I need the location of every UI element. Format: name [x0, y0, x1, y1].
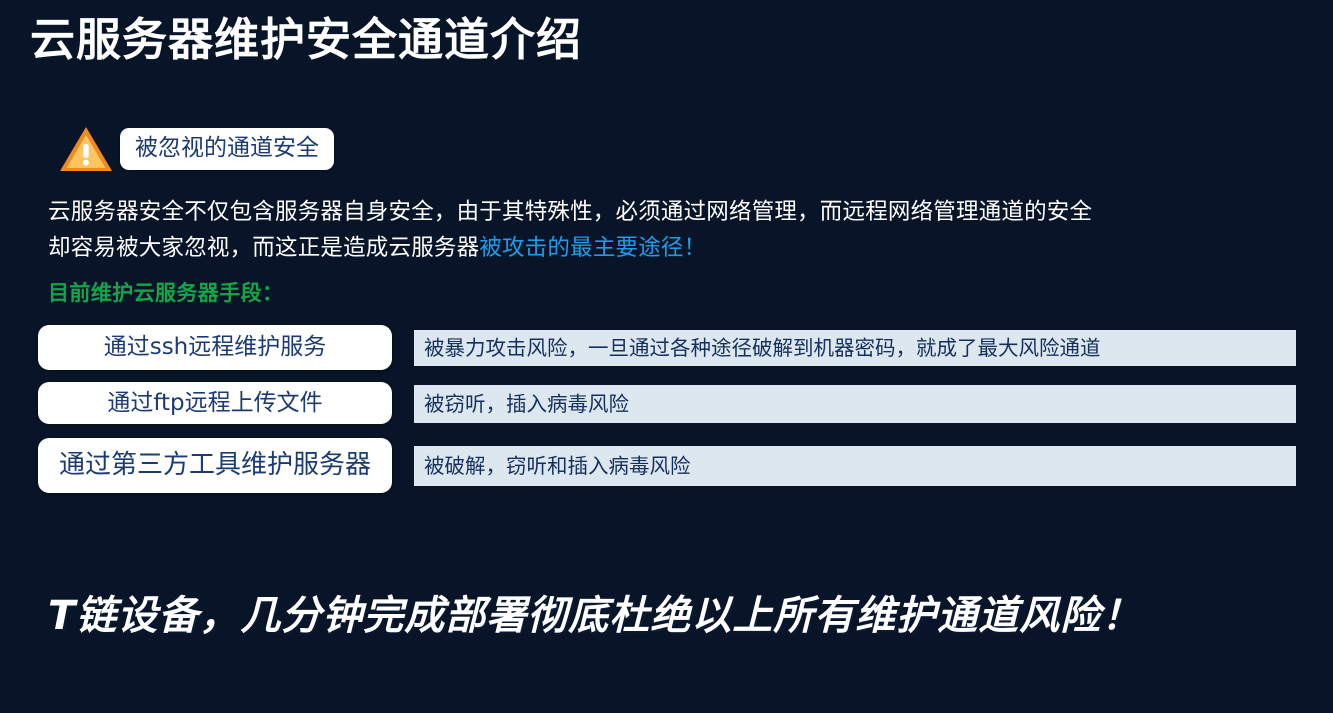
method-button-ftp[interactable]: 通过ftp远程上传文件: [38, 382, 392, 424]
method-button-third-party-tool[interactable]: 通过第三方工具维护服务器: [38, 438, 392, 493]
method-risk-ftp: 被窃听，插入病毒风险: [414, 385, 1296, 423]
intro-paragraph-highlight: 被攻击的最主要途径！: [479, 235, 706, 261]
intro-paragraph-line1: 云服务器安全不仅包含服务器自身安全，由于其特殊性，必须通过网络管理，而远程网络管…: [48, 199, 1092, 225]
method-row: 通过ftp远程上传文件 被窃听，插入病毒风险: [38, 382, 1296, 424]
method-risk-ssh: 被暴力攻击风险，一旦通过各种途径破解到机器密码，就成了最大风险通道: [414, 330, 1296, 366]
method-button-ssh[interactable]: 通过ssh远程维护服务: [38, 325, 392, 370]
methods-list: 通过ssh远程维护服务 被暴力攻击风险，一旦通过各种途径破解到机器密码，就成了最…: [38, 325, 1296, 505]
page-title: 云服务器维护安全通道介绍: [30, 14, 582, 66]
method-row: 通过第三方工具维护服务器 被破解，窃听和插入病毒风险: [38, 438, 1296, 493]
method-row: 通过ssh远程维护服务 被暴力攻击风险，一旦通过各种途径破解到机器密码，就成了最…: [38, 325, 1296, 370]
bottom-banner-text: T链设备，几分钟完成部署彻底杜绝以上所有维护通道风险！: [48, 583, 1142, 641]
warning-triangle-icon: [58, 124, 114, 174]
methods-section-heading: 目前维护云服务器手段：: [48, 277, 283, 307]
warning-badge-label: 被忽视的通道安全: [120, 128, 334, 170]
intro-paragraph: 云服务器安全不仅包含服务器自身安全，由于其特殊性，必须通过网络管理，而远程网络管…: [48, 194, 1248, 267]
slide-canvas: 云服务器维护安全通道介绍 被忽视的通道安全 云服务器安全不仅包含服务器自身安全，…: [0, 0, 1333, 713]
intro-paragraph-line2-plain: 却容易被大家忽视，而这正是造成云服务器: [48, 235, 479, 261]
warning-callout: 被忽视的通道安全: [58, 124, 334, 174]
method-risk-third-party-tool: 被破解，窃听和插入病毒风险: [414, 446, 1296, 486]
